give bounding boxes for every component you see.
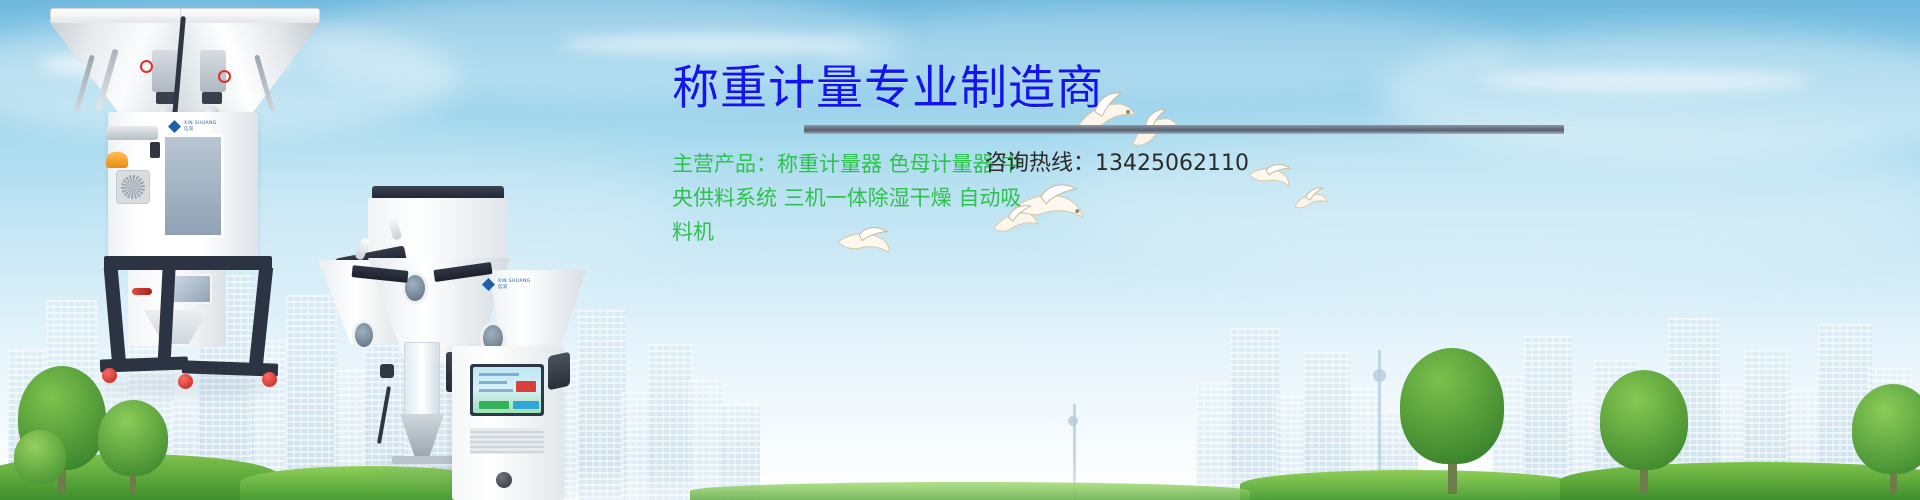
lcd-touchscreen[interactable] <box>470 364 544 416</box>
clamp-bracket <box>106 126 158 140</box>
screen-button[interactable] <box>513 401 539 409</box>
sight-glass-tube <box>404 342 440 418</box>
page-title: 称重计量专业制造商 <box>672 64 1572 113</box>
cloud-wisp <box>560 34 860 54</box>
sensor-block <box>202 92 222 104</box>
power-knob[interactable] <box>496 472 512 488</box>
caster-wheel <box>178 374 193 389</box>
tower-sphere <box>1373 369 1386 382</box>
mounting-flange <box>392 456 454 464</box>
diamond-logo-icon <box>168 120 181 133</box>
toggle-latch[interactable] <box>150 142 160 158</box>
subtitle-block: 主营产品：称重计量器 色母计量器 中 央供料系统 三机一体除湿干燥 自动吸 料机… <box>672 147 1572 249</box>
status-beacon-lamp <box>106 152 128 168</box>
logo-text-cn: 信双 <box>184 127 217 133</box>
title-underline-bar <box>804 125 1564 134</box>
tree <box>1598 370 1690 494</box>
valve-knob[interactable] <box>380 364 394 378</box>
vent-grille <box>470 428 544 454</box>
tower-sphere <box>1068 416 1078 426</box>
warning-decal <box>140 60 153 73</box>
cooling-fan-icon <box>116 170 150 204</box>
tree <box>1852 384 1920 494</box>
brand-logo: XIN SHUANG 信双 <box>482 278 531 291</box>
screen-button[interactable] <box>479 401 509 409</box>
hero-banner: 称重计量专业制造商 主营产品：称重计量器 色母计量器 中 央供料系统 三机一体除… <box>0 0 1920 500</box>
control-cabinet <box>452 346 564 500</box>
tree <box>1396 348 1508 494</box>
inspection-port <box>352 320 376 350</box>
headline-block: 称重计量专业制造商 主营产品：称重计量器 色母计量器 中 央供料系统 三机一体除… <box>672 64 1572 249</box>
caster-wheel <box>262 372 277 387</box>
machine-gravimetric-weigh-blender: XIN SHUANG 信双 <box>50 0 330 414</box>
hotline-text: 咨询热线：13425062110 <box>985 147 1249 181</box>
subtitle-line-3: 料机 <box>672 215 1572 249</box>
diamond-logo-icon <box>482 278 495 291</box>
caster-wheel <box>102 368 117 383</box>
value-readout <box>516 381 536 392</box>
logo-text-en: XIN SHUANG <box>498 279 531 285</box>
inspection-window <box>162 134 224 238</box>
cabinet-handle[interactable] <box>548 352 570 391</box>
machine-stand <box>104 256 272 382</box>
brand-logo: XIN SHUANG 信双 <box>168 120 217 133</box>
logo-text-en: XIN SHUANG <box>184 121 217 127</box>
outlet-chute <box>400 414 444 458</box>
warning-decal <box>218 70 231 83</box>
cable <box>377 386 391 444</box>
logo-text-cn: 信双 <box>498 285 531 291</box>
subtitle-line-2: 央供料系统 三机一体除湿干燥 自动吸 <box>672 181 1572 215</box>
